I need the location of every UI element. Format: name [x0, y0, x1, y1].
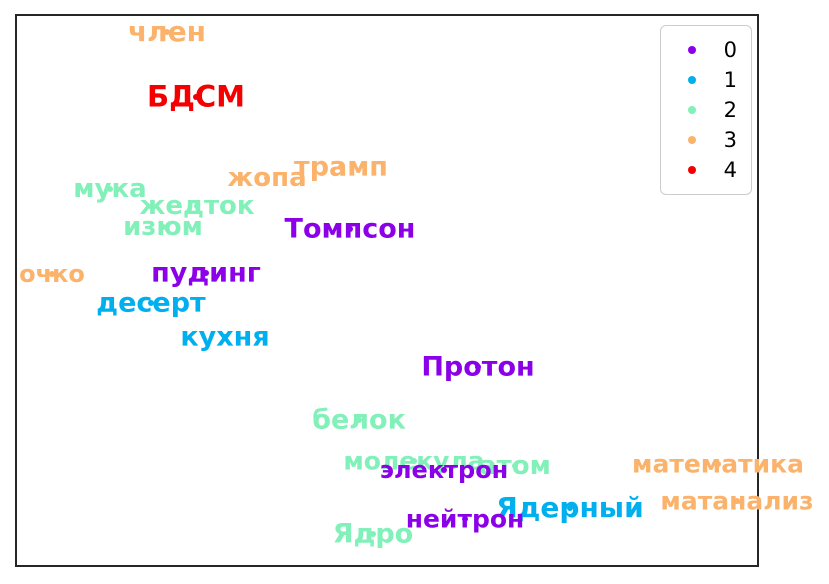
- word-label[interactable]: БДСМ: [147, 83, 245, 112]
- legend-marker-icon: [671, 76, 713, 84]
- word-label[interactable]: трамп: [294, 154, 388, 181]
- legend-entry-3[interactable]: 3: [671, 125, 741, 155]
- scatter-plot-figure: членБДСМмукажедтокизюмжопатрампТомпсоноч…: [0, 0, 829, 584]
- legend-entry-1[interactable]: 1: [671, 65, 741, 95]
- legend-marker-icon: [671, 136, 713, 144]
- word-label[interactable]: изюм: [123, 214, 203, 240]
- legend-entry-label: 0: [713, 40, 741, 61]
- word-label[interactable]: член: [128, 18, 206, 46]
- word-label[interactable]: очко: [19, 262, 85, 286]
- legend-marker-icon: [671, 46, 713, 54]
- word-label[interactable]: белок: [312, 407, 406, 434]
- word-label[interactable]: десерт: [96, 290, 205, 317]
- word-label[interactable]: Ядро: [333, 521, 413, 548]
- legend-entry-0[interactable]: 0: [671, 35, 741, 65]
- legend-marker-icon: [671, 106, 713, 114]
- legend-entry-label: 3: [713, 130, 741, 151]
- word-label[interactable]: пудинг: [151, 260, 261, 287]
- word-label[interactable]: кухня: [180, 324, 269, 351]
- legend-entry-label: 2: [713, 100, 741, 121]
- cluster-legend[interactable]: 01234: [660, 25, 752, 195]
- word-label[interactable]: электрон: [380, 458, 509, 482]
- word-label[interactable]: мука: [73, 176, 146, 202]
- word-label[interactable]: нейтрон: [406, 507, 525, 532]
- word-label[interactable]: матанализ: [660, 489, 813, 514]
- legend-entry-label: 4: [713, 160, 741, 181]
- legend-entry-label: 1: [713, 70, 741, 91]
- legend-marker-icon: [671, 166, 713, 174]
- legend-entry-2[interactable]: 2: [671, 95, 741, 125]
- word-label[interactable]: математика: [632, 452, 804, 477]
- word-label[interactable]: Протон: [421, 354, 534, 381]
- word-label[interactable]: Томпсон: [285, 216, 416, 243]
- legend-entry-4[interactable]: 4: [671, 155, 741, 185]
